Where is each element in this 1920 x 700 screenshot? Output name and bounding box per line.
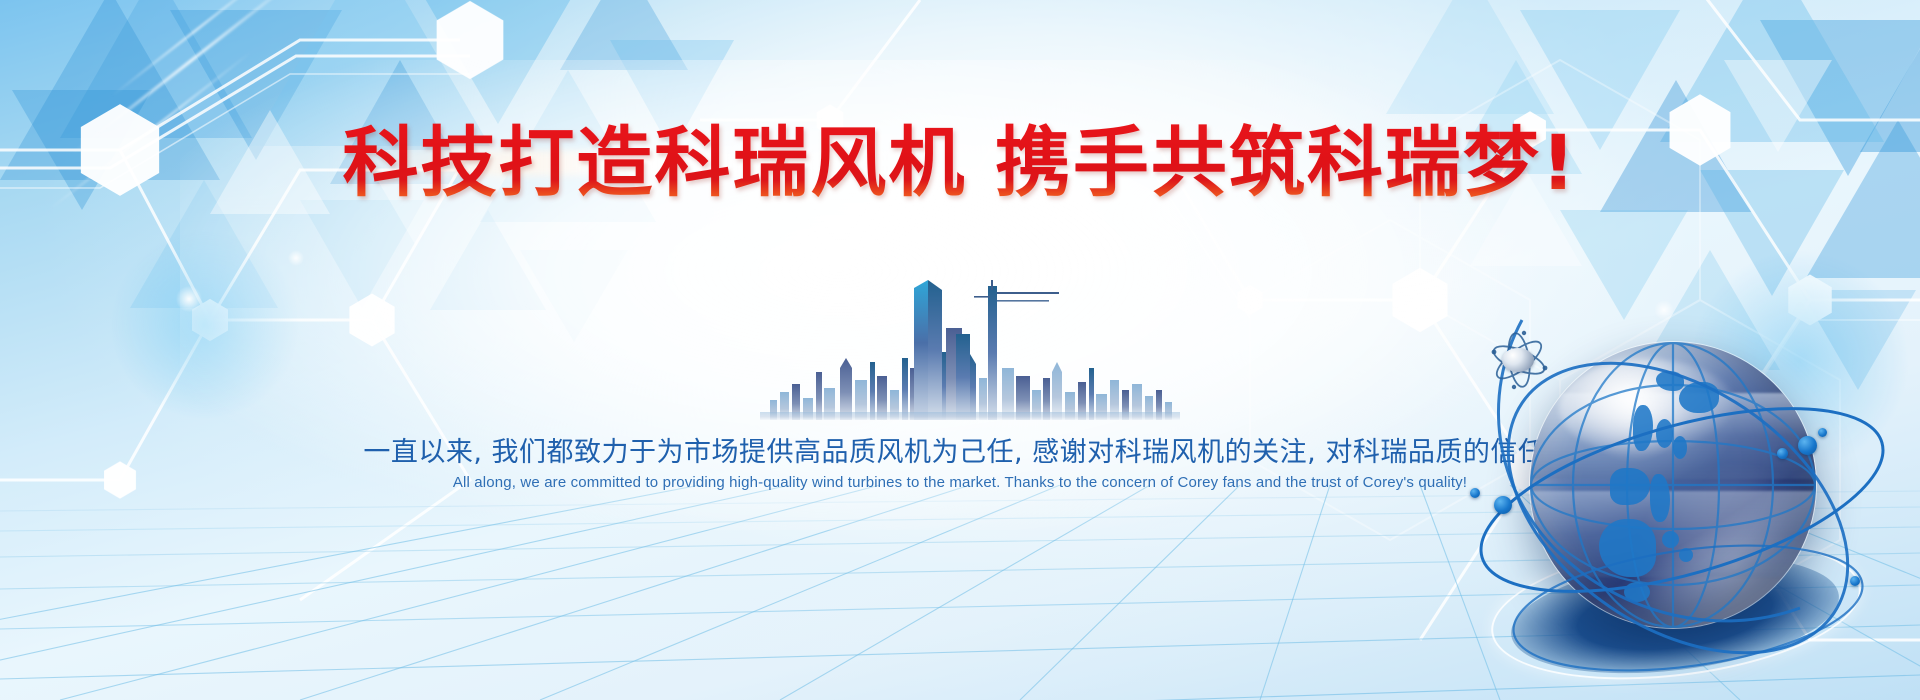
globe-graphic [1482, 308, 1920, 700]
atom-icon [1488, 330, 1550, 392]
city-skyline-icon [760, 272, 1180, 420]
orbit-node-right-large [1798, 436, 1817, 455]
orbit-node-far-right [1818, 428, 1827, 437]
orbit-node-left [1494, 496, 1512, 514]
hero-banner: 科技打造科瑞风机 携手共筑科瑞梦! [0, 0, 1920, 700]
orbit-node-bottom-right [1850, 576, 1860, 586]
atom-core [1502, 348, 1534, 372]
orbit-node-left-outer [1470, 488, 1480, 498]
orbit-node-right-small [1777, 448, 1788, 459]
banner-headline: 科技打造科瑞风机 携手共筑科瑞梦! [0, 122, 1920, 204]
